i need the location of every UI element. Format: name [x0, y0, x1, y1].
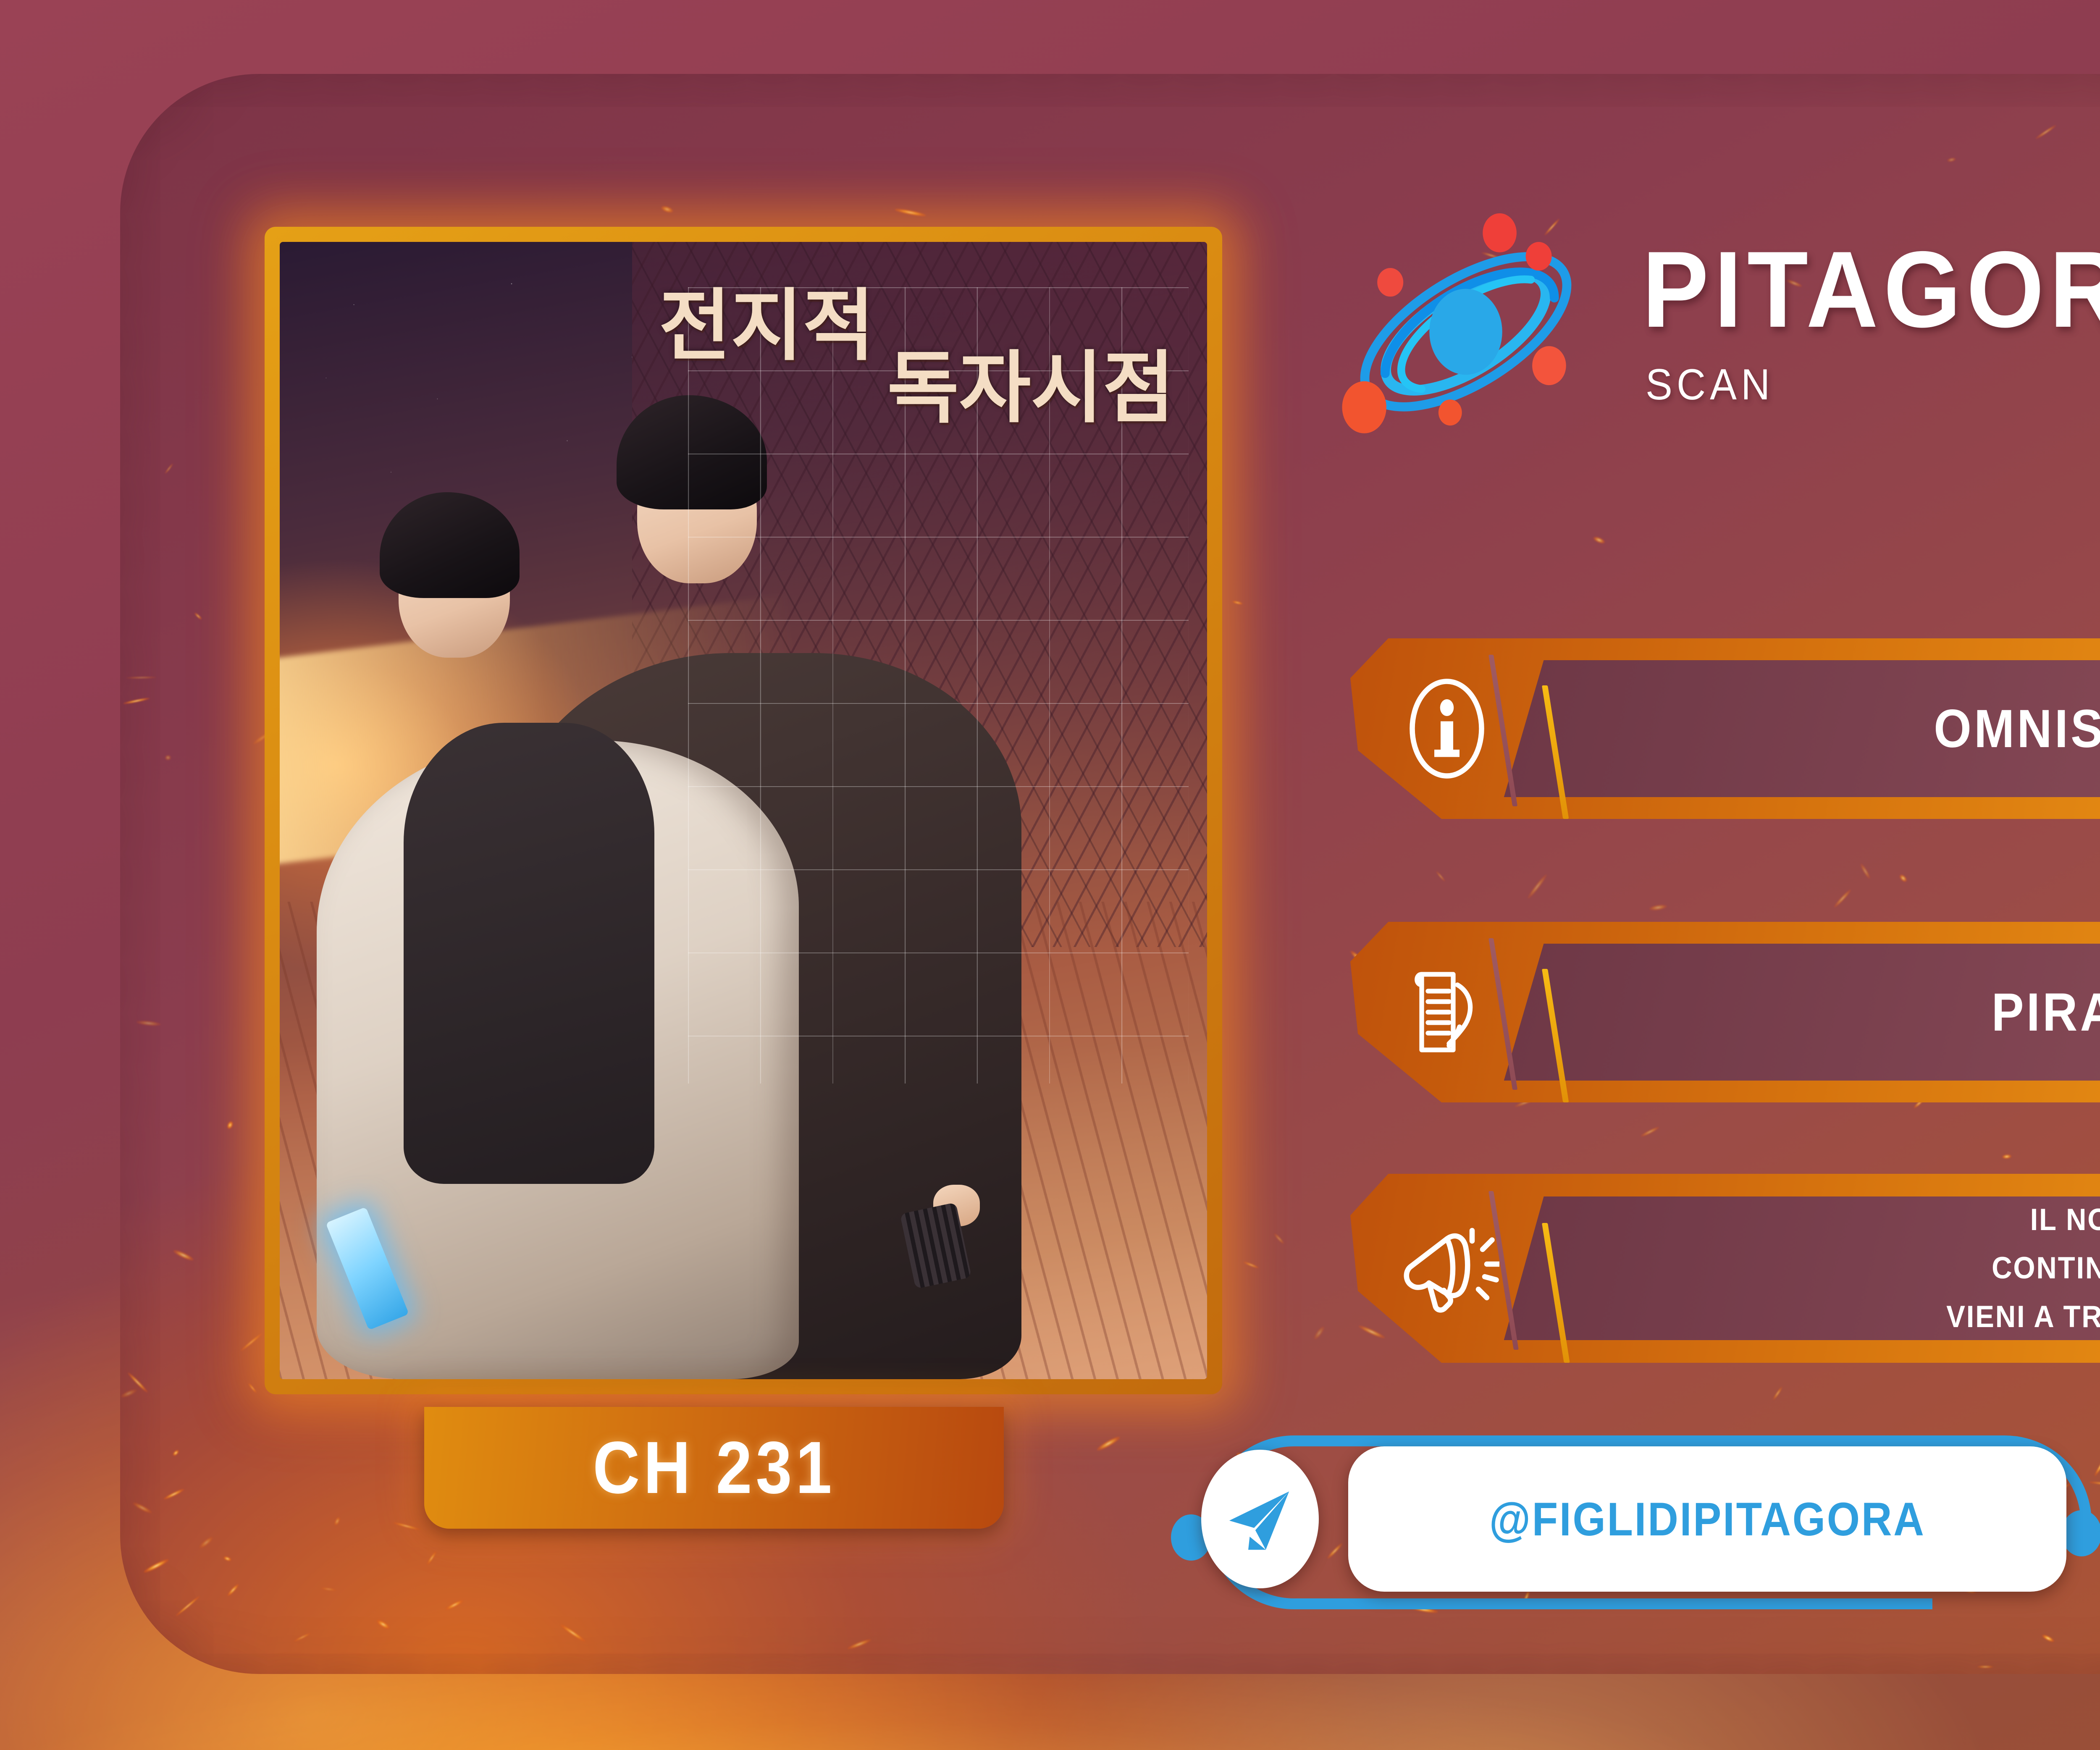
social-telegram[interactable]: @FIGLIDIPITAGORA — [1193, 1432, 2100, 1613]
character-front-torso — [404, 723, 654, 1184]
ember-spark — [661, 205, 674, 214]
telegram-cable-dot-right — [2061, 1510, 2100, 1556]
ember-spark — [120, 1388, 138, 1399]
ember-spark — [847, 1637, 872, 1650]
megaphone-icon — [1394, 1216, 1499, 1321]
ember-spark — [163, 1488, 185, 1500]
cover-art-frame: 전지적 독자시점 — [265, 227, 1222, 1394]
brand-text-block: PITAGORA SCAN — [1642, 238, 2100, 410]
ember-spark — [194, 612, 202, 620]
banner-line: PIRAMIDE96, LUZ — [1991, 981, 2100, 1043]
chapter-tab[interactable]: CH 231 — [424, 1407, 1004, 1529]
brand-header: PITAGORA SCAN — [1336, 218, 2100, 462]
telegram-avatar[interactable] — [1201, 1450, 1319, 1588]
ember-spark — [1232, 600, 1243, 605]
galaxy-dot-4 — [1532, 346, 1566, 385]
ember-spark — [132, 1501, 152, 1515]
ember-spark — [1947, 157, 1957, 163]
info-icon — [1394, 676, 1499, 781]
banner-line: OMNISCIENT READER — [1934, 698, 2100, 760]
ember-spark — [198, 1535, 215, 1550]
ember-spark — [321, 1587, 336, 1591]
ember-spark — [175, 1595, 200, 1617]
galaxy-dot-1 — [1483, 213, 1517, 252]
ember-spark — [375, 1619, 391, 1631]
ember-spark — [143, 1558, 170, 1574]
banner-recruitment[interactable]: IL NOSTRO TEAM È ALLA CONTINUA RICERCA D… — [1350, 1174, 2100, 1363]
galaxy-dot-3 — [1377, 268, 1403, 296]
ember-spark — [223, 1556, 232, 1562]
banner-credits[interactable]: PIRAMIDE96, LUZ — [1350, 922, 2100, 1102]
ember-spark — [560, 1623, 586, 1643]
galaxy-dot-2 — [1526, 242, 1552, 270]
character-front-hair — [380, 492, 520, 598]
ember-spark — [1593, 535, 1606, 545]
ember-spark — [1898, 873, 1908, 883]
ember-spark — [1096, 1435, 1121, 1452]
ember-spark — [1312, 1325, 1326, 1341]
cover-korean-title: 전지적 독자시점 — [659, 287, 1175, 429]
telegram-handle: @FIGLIDIPITAGORA — [1489, 1492, 1926, 1546]
chapter-label: CH 231 — [593, 1425, 835, 1510]
ember-spark — [445, 1599, 464, 1611]
galaxy-dot-5 — [1342, 381, 1386, 433]
brand-subtitle: SCAN — [1646, 360, 2100, 410]
banner-line: VIENI A TROVARCI SUI VARI SOCIAL. — [1946, 1293, 2100, 1341]
ember-spark — [1772, 1386, 1783, 1401]
ember-spark — [2002, 1154, 2011, 1159]
cover-art-image: 전지적 독자시점 — [280, 242, 1207, 1379]
ember-spark — [123, 697, 150, 705]
ember-spark — [1859, 863, 1872, 880]
ember-spark — [1649, 903, 1667, 911]
ember-spark — [240, 1333, 262, 1352]
ember-spark — [248, 1383, 257, 1393]
scroll-pen-icon — [1394, 960, 1499, 1065]
galaxy-dot-6 — [1438, 399, 1462, 425]
ember-spark — [1640, 1126, 1660, 1138]
poster-canvas: 전지적 독자시점 CH 231 — [0, 0, 2100, 1750]
ember-spark — [1833, 888, 1852, 909]
ember-spark — [895, 207, 926, 218]
ember-spark — [173, 1249, 194, 1262]
banner-line: CONTINUA RICERCA DI STAFF. — [1992, 1244, 2100, 1292]
ember-spark — [172, 1449, 179, 1456]
ember-spark — [165, 755, 171, 761]
ember-spark — [2041, 1634, 2055, 1643]
ember-spark — [2035, 124, 2057, 140]
banner-text: OMNISCIENT READER — [1697, 638, 2100, 819]
social-row: @FIGLIDIPITAGORA DISCORD.GG/N94GDTY — [1193, 1432, 2100, 1613]
ember-spark — [127, 1371, 149, 1393]
telegram-icon — [1223, 1476, 1297, 1562]
ember-spark — [226, 1583, 240, 1597]
ember-spark — [165, 463, 174, 475]
ember-spark — [333, 1516, 341, 1527]
ember-spark — [1243, 1261, 1259, 1269]
banner-line: IL NOSTRO TEAM È ALLA — [2030, 1196, 2100, 1244]
ember-spark — [1436, 871, 1446, 882]
ember-spark — [1273, 1232, 1285, 1244]
ember-spark — [136, 1020, 160, 1027]
ember-spark — [126, 677, 156, 679]
korean-title-column-a: 전지적 — [659, 287, 874, 429]
galaxy-icon — [1336, 202, 1596, 462]
ember-spark — [426, 1551, 437, 1565]
brand-title: PITAGORA — [1642, 238, 2100, 341]
korean-title-column-b: 독자시점 — [887, 349, 1174, 429]
ember-spark — [1977, 1666, 1993, 1668]
ember-spark — [294, 1632, 311, 1642]
ember-spark — [393, 1522, 420, 1531]
banner-series-title[interactable]: OMNISCIENT READER — [1350, 638, 2100, 819]
ember-spark — [226, 1120, 234, 1129]
ember-spark — [1526, 873, 1548, 900]
banner-text: PIRAMIDE96, LUZ — [1697, 922, 2100, 1102]
banner-text: IL NOSTRO TEAM È ALLA CONTINUA RICERCA D… — [1685, 1174, 2100, 1363]
telegram-handle-pill[interactable]: @FIGLIDIPITAGORA — [1348, 1446, 2066, 1592]
